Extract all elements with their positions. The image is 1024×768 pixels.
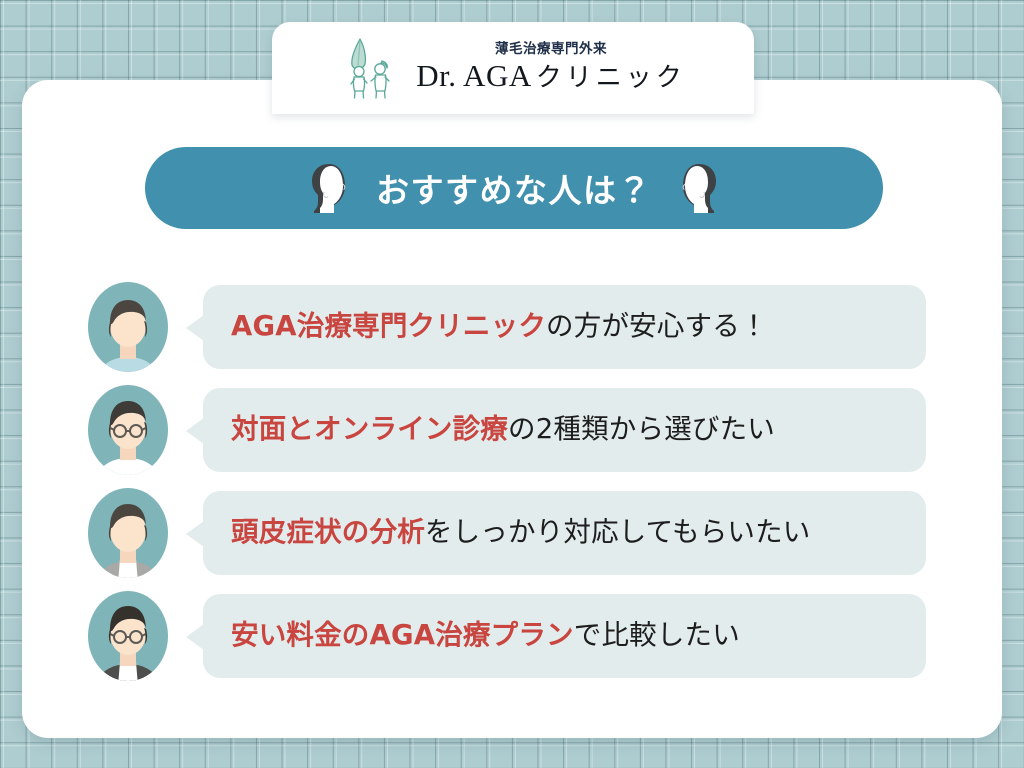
list-item[interactable]: 対面とオンライン診療の2種類から選びたい <box>0 381 1024 484</box>
list-item-text: 頭皮症状の分析をしっかり対応してもらいたい <box>203 519 811 547</box>
list-item[interactable]: 頭皮症状の分析をしっかり対応してもらいたい <box>0 484 1024 587</box>
rest-text: をしっかり対応してもらいたい <box>425 516 811 548</box>
avatar-person-cardigan-icon <box>86 487 170 579</box>
avatar-person-glasses-icon <box>86 384 170 476</box>
highlight-text: 頭皮症状の分析 <box>231 516 425 548</box>
logo-name: Dr. AGAクリニック <box>416 60 685 93</box>
highlight-text: AGA治療専門クリニック <box>231 310 546 342</box>
logo-name-kana: クリニック <box>536 63 686 93</box>
clinic-logo-tab[interactable]: 薄毛治療専門外来 Dr. AGAクリニック <box>272 22 754 114</box>
recommendation-list: AGA治療専門クリニックの方が安心する！ <box>0 278 1024 690</box>
highlight-text: 安い料金のAGA治療プラン <box>231 619 574 651</box>
list-item-text: 安い料金のAGA治療プランで比較したい <box>203 622 740 650</box>
rest-text: で比較したい <box>574 619 740 651</box>
speech-bubble: 対面とオンライン診療の2種類から選びたい <box>203 388 926 472</box>
list-item-text: AGA治療専門クリニックの方が安心する！ <box>203 313 768 341</box>
list-item[interactable]: 安い料金のAGA治療プランで比較したい <box>0 587 1024 690</box>
head-profile-icon <box>678 162 720 214</box>
logo-text-block: 薄毛治療専門外来 Dr. AGAクリニック <box>416 43 685 93</box>
avatar-person-plain-icon <box>86 281 170 373</box>
avatar-person-glasses-jacket-icon <box>86 590 170 682</box>
two-figures-plant-logo-icon <box>340 36 402 100</box>
speech-bubble: AGA治療専門クリニックの方が安心する！ <box>203 285 926 369</box>
banner-title: おすすめな人は？ <box>376 164 652 212</box>
speech-bubble: 安い料金のAGA治療プランで比較したい <box>203 594 926 678</box>
section-banner: おすすめな人は？ <box>145 147 883 229</box>
logo-tagline: 薄毛治療専門外来 <box>495 43 607 57</box>
speech-bubble: 頭皮症状の分析をしっかり対応してもらいたい <box>203 491 926 575</box>
head-profile-icon <box>308 162 350 214</box>
rest-text: の方が安心する！ <box>546 310 768 342</box>
highlight-text: 対面とオンライン診療 <box>231 413 508 445</box>
logo-name-latin: Dr. AGA <box>416 58 531 93</box>
list-item[interactable]: AGA治療専門クリニックの方が安心する！ <box>0 278 1024 381</box>
page-canvas: 薄毛治療専門外来 Dr. AGAクリニック おすすめな人は？ <box>0 0 1024 768</box>
rest-text: の2種類から選びたい <box>508 413 775 445</box>
list-item-text: 対面とオンライン診療の2種類から選びたい <box>203 416 775 444</box>
